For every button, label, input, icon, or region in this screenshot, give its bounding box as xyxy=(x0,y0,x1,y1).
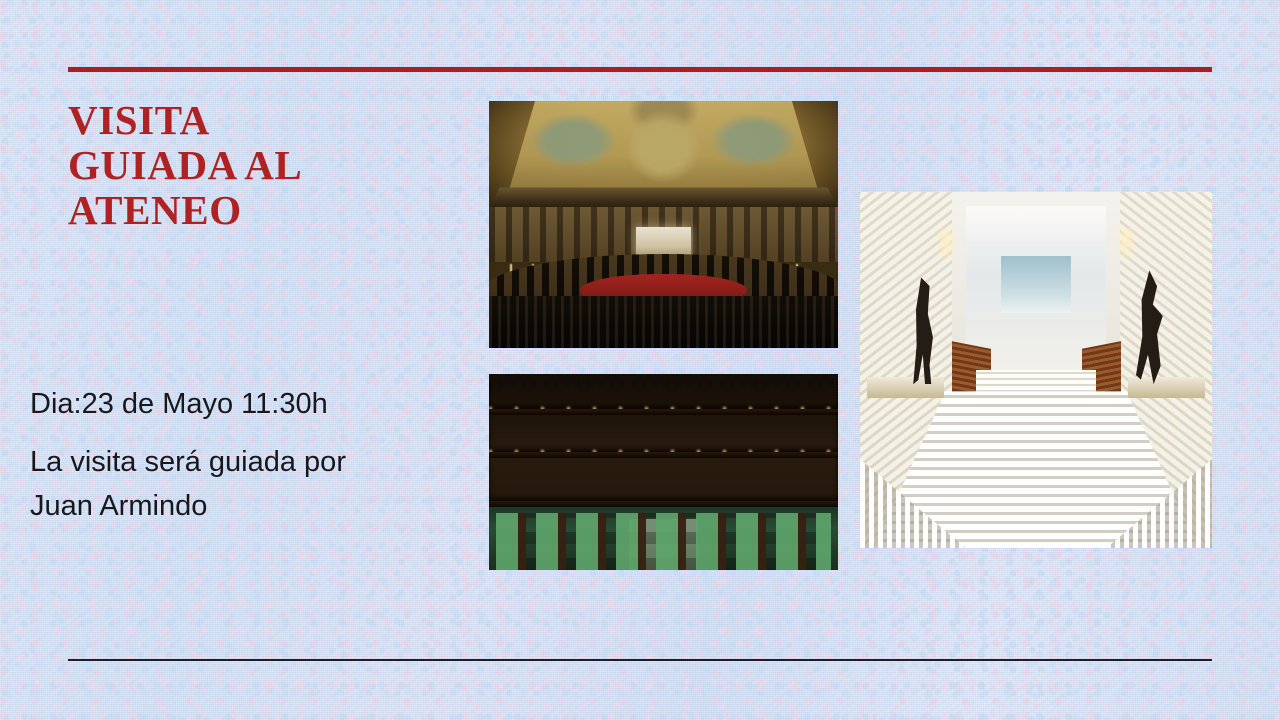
library-scene xyxy=(489,374,838,570)
staircase-pedestal-right xyxy=(1128,377,1205,398)
body-text-block: Dia:23 de Mayo 11:30h La visita será gui… xyxy=(30,382,450,528)
library-bookshelf-row-1 xyxy=(489,382,838,409)
photo-staircase xyxy=(860,192,1212,548)
top-accent-rule xyxy=(68,67,1212,72)
title-line-3: ATENEO xyxy=(68,188,458,233)
guide-text-line-2: Juan Armindo xyxy=(30,484,450,528)
staircase-pedestal-left xyxy=(867,377,944,398)
auditorium-scene xyxy=(489,101,838,348)
title-line-2: GUIADA AL xyxy=(68,143,458,188)
library-green-desks xyxy=(496,513,831,570)
bottom-rule xyxy=(68,659,1212,661)
title-line-1: VISITA xyxy=(68,98,458,143)
auditorium-painted-ceiling xyxy=(503,101,824,200)
library-bookshelf-row-2 xyxy=(489,413,838,452)
page-title: VISITA GUIADA AL ATENEO xyxy=(68,98,458,233)
slide: VISITA GUIADA AL ATENEO Dia:23 de Mayo 1… xyxy=(0,0,1280,720)
guide-text-line-1: La visita será guiada por xyxy=(30,440,450,484)
photo-library xyxy=(489,374,838,570)
library-bookshelf-row-3 xyxy=(489,458,838,501)
staircase-scene xyxy=(860,192,1212,548)
event-date-text: Dia:23 de Mayo 11:30h xyxy=(30,382,450,426)
staircase-window xyxy=(1001,256,1071,313)
auditorium-audience-floor xyxy=(489,296,838,348)
photo-auditorium xyxy=(489,101,838,348)
staircase-sconce-right xyxy=(1117,228,1135,260)
staircase-sconce-left xyxy=(937,228,955,260)
